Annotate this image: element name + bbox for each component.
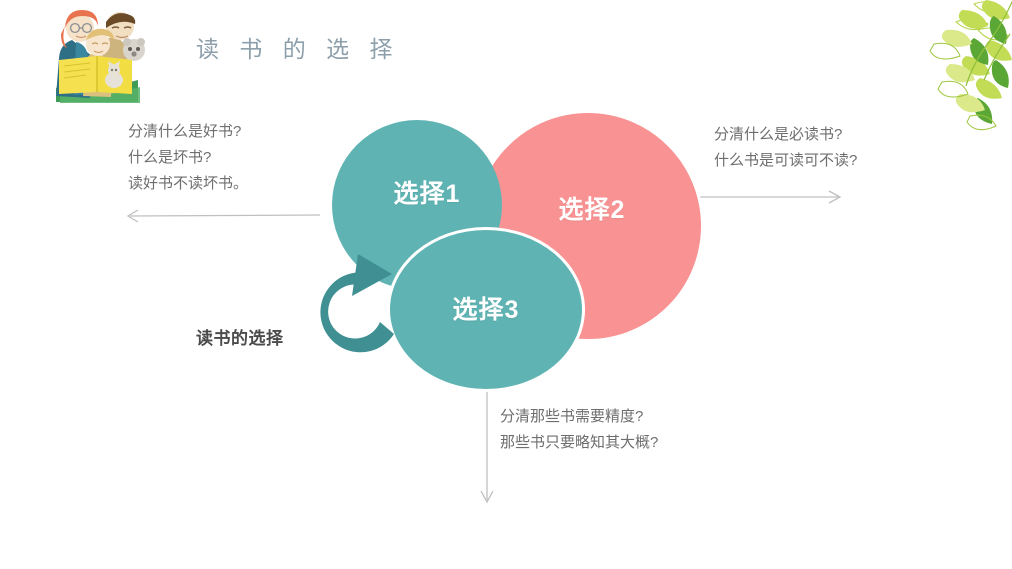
arrow-left-icon	[122, 206, 322, 226]
callout-bottom: 分清那些书需要精度? 那些书只要略知其大概?	[500, 404, 658, 456]
family-reading-book-illustration	[42, 4, 152, 104]
choice-3-label: 选择3	[453, 290, 520, 326]
callout-bottom-line-1: 分清那些书需要精度?	[500, 404, 658, 430]
callout-right-line-1: 分清什么是必读书?	[714, 122, 857, 148]
callout-left-line-1: 分清什么是好书?	[128, 119, 248, 145]
cycle-label: 读书的选择	[196, 324, 284, 349]
callout-right: 分清什么是必读书? 什么书是可读可不读?	[714, 122, 857, 174]
circular-arrow-icon	[300, 248, 412, 360]
callout-bottom-line-2: 那些书只要略知其大概?	[500, 430, 658, 456]
slide-canvas: 读 书 的 选 择	[0, 0, 1012, 569]
choice-1-label: 选择1	[394, 174, 461, 210]
arrow-down-icon	[476, 386, 498, 508]
page-title: 读 书 的 选 择	[196, 30, 400, 64]
choice-3-circle[interactable]: 选择3	[387, 227, 585, 392]
callout-right-line-2: 什么书是可读可不读?	[714, 148, 857, 174]
arrow-right-icon	[698, 188, 844, 208]
green-leaves-ornament	[916, 0, 1012, 132]
callout-left: 分清什么是好书? 什么是坏书? 读好书不读坏书。	[128, 119, 248, 197]
choice-2-label: 选择2	[559, 190, 626, 226]
callout-left-line-2: 什么是坏书?	[128, 145, 248, 171]
callout-left-line-3: 读好书不读坏书。	[128, 171, 248, 197]
